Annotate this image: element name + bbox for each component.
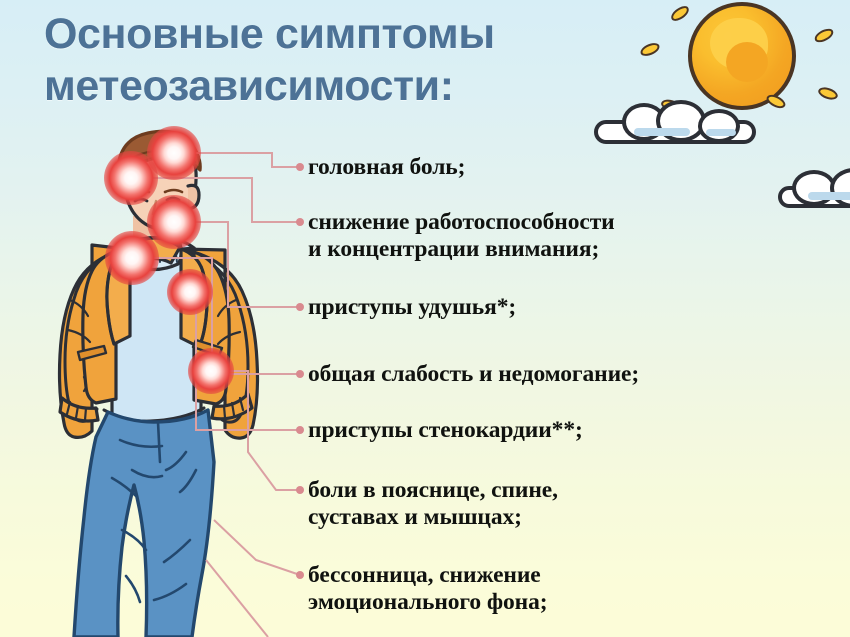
symptom-weakness: общая слабость и недомогание; — [308, 361, 639, 388]
connector-enddot — [296, 218, 304, 226]
symptom-headache: головная боль; — [308, 154, 465, 181]
symptom-back-pain: боли в пояснице, спине, суставах и мышца… — [308, 477, 558, 531]
connector-enddot — [296, 486, 304, 494]
marker-chest — [105, 231, 159, 285]
symptom-insomnia: бессонница, снижение эмоционального фона… — [308, 562, 547, 616]
marker-abdomen — [167, 269, 213, 315]
symptom-suffocation: приступы удушья*; — [308, 294, 516, 321]
marker-temple — [104, 151, 158, 205]
connector-enddot — [296, 571, 304, 579]
connector-enddot — [296, 303, 304, 311]
marker-lower-back — [188, 348, 234, 394]
marker-throat — [147, 195, 201, 249]
symptom-performance: снижение работоспособности и концентраци… — [308, 209, 615, 263]
connector-enddot — [296, 370, 304, 378]
infographic-poster: Основные симптомы метеозависимости: — [0, 0, 850, 637]
connector-enddot — [296, 426, 304, 434]
connector-enddot — [296, 163, 304, 171]
symptom-angina: приступы стенокардии**; — [308, 417, 583, 444]
